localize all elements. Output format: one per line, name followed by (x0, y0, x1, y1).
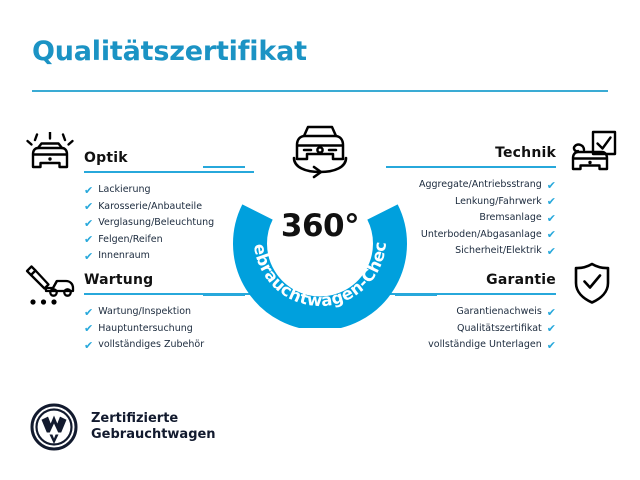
list-item: ✔Felgen/Reifen (84, 232, 254, 249)
footer-line-2: Gebrauchtwagen (91, 427, 216, 443)
check-icon: ✔ (547, 246, 556, 257)
check-icon: ✔ (84, 323, 93, 334)
list-item-label: Innenraum (98, 248, 150, 265)
footer-brand: Zertifizierte Gebrauchtwagen (30, 403, 216, 451)
list-item-label: Qualitätszertifikat (457, 321, 542, 338)
section-rule-technik (386, 166, 556, 168)
list-item: Bremsanlage✔ (386, 210, 556, 227)
section-optik: Optik ✔Lackierung ✔Karosserie/Anbauteile… (84, 150, 254, 265)
car-checkbox-icon (564, 130, 618, 181)
check-icon: ✔ (84, 234, 93, 245)
list-item-label: Sicherheit/Elektrik (455, 243, 542, 260)
certificate-page: Qualitätszertifikat Optik ✔Lack (0, 0, 640, 480)
car-shine-icon (24, 132, 76, 181)
car-service-tools-icon (22, 262, 78, 313)
list-item: ✔vollständiges Zubehör (84, 337, 254, 354)
list-item: ✔Wartung/Inspektion (84, 304, 254, 321)
volkswagen-logo (30, 403, 78, 451)
check-icon: ✔ (547, 229, 556, 240)
list-item: Aggregate/Antriebsstrang✔ (386, 177, 556, 194)
list-item-label: Verglasung/Beleuchtung (98, 215, 214, 232)
list-item-label: Unterboden/Abgasanlage (421, 227, 542, 244)
check-icon: ✔ (547, 307, 556, 318)
check-icon: ✔ (547, 180, 556, 191)
header-divider (32, 90, 608, 92)
list-item-label: Wartung/Inspektion (98, 304, 191, 321)
checklist-wartung: ✔Wartung/Inspektion ✔Hauptuntersuchung ✔… (84, 304, 254, 354)
list-item-label: vollständige Unterlagen (428, 337, 542, 354)
check-icon: ✔ (84, 185, 93, 196)
shield-check-icon (572, 261, 612, 310)
section-technik: Technik Aggregate/Antriebsstrang✔ Lenkun… (386, 145, 556, 260)
page-title: Qualitätszertifikat (32, 36, 307, 67)
360-check-badge: Gebrauchtwagen-Check 360° (232, 152, 408, 328)
check-icon: ✔ (84, 201, 93, 212)
section-rule-wartung (84, 293, 254, 295)
list-item-label: Hauptuntersuchung (98, 321, 193, 338)
list-item-label: Lenkung/Fahrwerk (455, 194, 542, 211)
list-item: ✔Lackierung (84, 182, 254, 199)
check-icon: ✔ (547, 323, 556, 334)
footer-brand-text: Zertifizierte Gebrauchtwagen (91, 411, 216, 443)
list-item: Sicherheit/Elektrik✔ (386, 243, 556, 260)
section-rule-garantie (386, 293, 556, 295)
list-item: Qualitätszertifikat✔ (386, 321, 556, 338)
list-item: Lenkung/Fahrwerk✔ (386, 194, 556, 211)
list-item-label: Bremsanlage (479, 210, 541, 227)
list-item-label: Aggregate/Antriebsstrang (419, 177, 542, 194)
list-item-label: vollständiges Zubehör (98, 337, 204, 354)
list-item: ✔Hauptuntersuchung (84, 321, 254, 338)
section-rule-optik (84, 171, 254, 173)
section-heading-technik: Technik (386, 145, 556, 161)
list-item: Unterboden/Abgasanlage✔ (386, 227, 556, 244)
car-rotate-icon (280, 118, 360, 180)
check-icon: ✔ (84, 307, 93, 318)
checklist-optik: ✔Lackierung ✔Karosserie/Anbauteile ✔Verg… (84, 182, 254, 265)
list-item: vollständige Unterlagen✔ (386, 337, 556, 354)
section-heading-optik: Optik (84, 150, 254, 166)
list-item-label: Karosserie/Anbauteile (98, 199, 202, 216)
list-item-label: Felgen/Reifen (98, 232, 162, 249)
section-wartung: Wartung ✔Wartung/Inspektion ✔Hauptunters… (84, 272, 254, 354)
list-item: ✔Verglasung/Beleuchtung (84, 215, 254, 232)
list-item-label: Garantienachweis (456, 304, 541, 321)
section-heading-wartung: Wartung (84, 272, 254, 288)
check-icon: ✔ (84, 251, 93, 262)
list-item: ✔Karosserie/Anbauteile (84, 199, 254, 216)
list-item: Garantienachweis✔ (386, 304, 556, 321)
check-icon: ✔ (547, 213, 556, 224)
check-icon: ✔ (547, 340, 556, 351)
check-icon: ✔ (84, 218, 93, 229)
badge-degrees: 360° (232, 208, 408, 244)
check-icon: ✔ (547, 196, 556, 207)
checklist-garantie: Garantienachweis✔ Qualitätszertifikat✔ v… (386, 304, 556, 354)
checklist-technik: Aggregate/Antriebsstrang✔ Lenkung/Fahrwe… (386, 177, 556, 260)
footer-line-1: Zertifizierte (91, 411, 216, 427)
section-heading-garantie: Garantie (386, 272, 556, 288)
check-icon: ✔ (84, 340, 93, 351)
list-item: ✔Innenraum (84, 248, 254, 265)
section-garantie: Garantie Garantienachweis✔ Qualitätszert… (386, 272, 556, 354)
list-item-label: Lackierung (98, 182, 150, 199)
